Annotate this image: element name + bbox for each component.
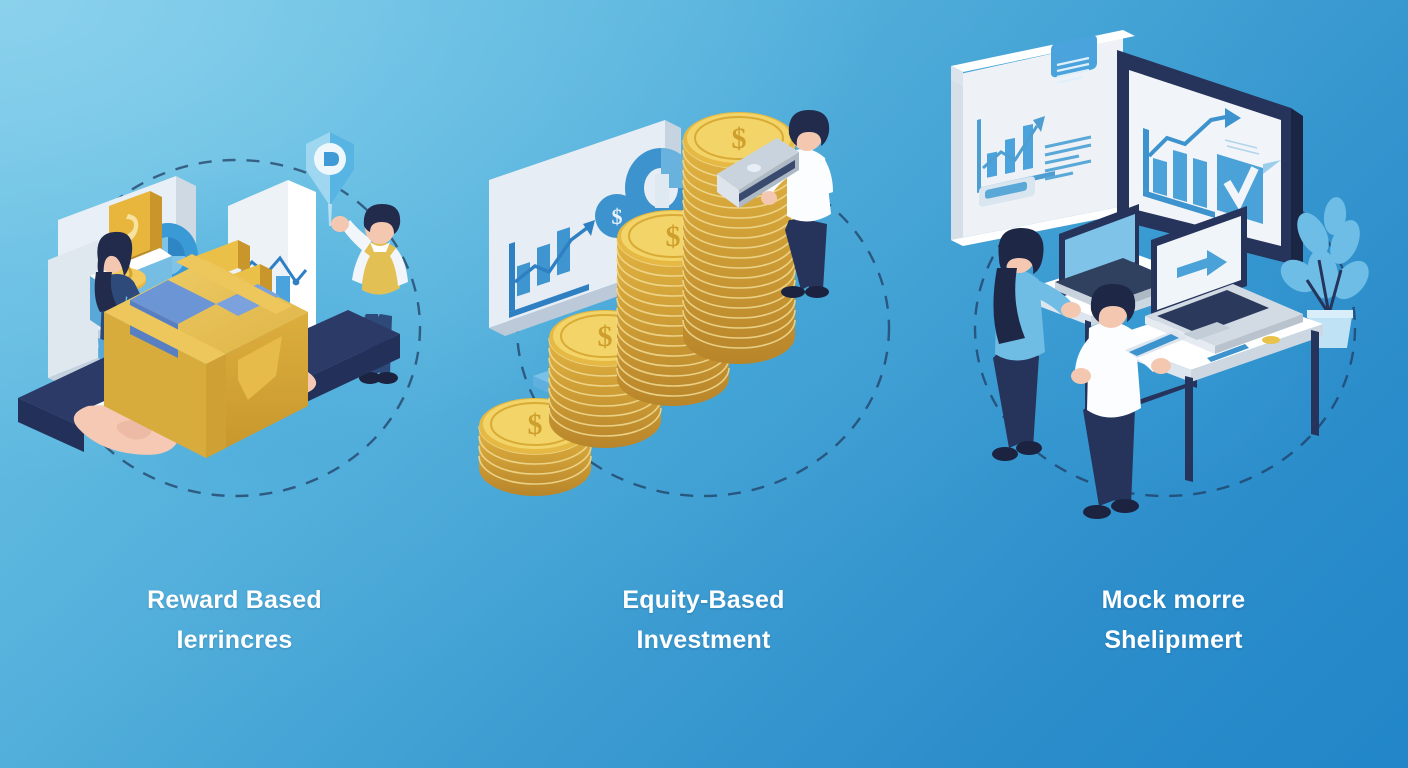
shoe <box>992 447 1018 461</box>
shoe <box>805 286 829 298</box>
isometric-parcel-delivery-scene <box>0 28 469 548</box>
caption-line-2: Ierrincres <box>0 620 469 660</box>
desk-leg <box>1185 376 1193 482</box>
coin-dollar-symbol: $ <box>528 408 543 441</box>
scene-reward-based <box>0 28 469 548</box>
chart-axis <box>509 242 515 312</box>
caption-line-2: Shelipımert <box>939 620 1408 660</box>
panel-caption-equity-based: Equity-Based Investment <box>469 580 938 660</box>
panel-caption-reward-based: Reward Based Ierrincres <box>0 580 469 660</box>
presentation-board <box>951 30 1135 246</box>
shoe <box>1083 505 1111 519</box>
coin-dollar-symbol: $ <box>598 320 613 353</box>
caption-line-1: Mock morre <box>1102 586 1246 614</box>
coin-dollar-symbol: $ <box>732 122 747 155</box>
illustration-canvas: Reward Based Ierrincres <box>0 0 1408 768</box>
scene-equity-based-investment: $ <box>469 28 938 548</box>
panel-caption-mock-development: Mock morre Shelipımert <box>939 580 1408 660</box>
panel-reward-based: Reward Based Ierrincres <box>0 0 469 768</box>
shoe <box>1016 441 1042 455</box>
shoe <box>1111 499 1139 513</box>
svg-text:$: $ <box>612 204 623 229</box>
shoe <box>376 372 398 384</box>
bar <box>537 244 550 286</box>
scene-mock-development <box>939 28 1408 548</box>
caption-line-1: Reward Based <box>147 586 322 614</box>
caption-line-2: Investment <box>469 620 938 660</box>
panel-mock-development: Mock morre Shelipımert <box>939 0 1408 768</box>
isometric-coin-stacks-scene: $ <box>469 28 938 548</box>
shoe <box>781 286 805 298</box>
panel-equity-based-investment: $ <box>469 0 938 768</box>
coin-dollar-symbol: $ <box>666 220 681 253</box>
desk-leg <box>1311 330 1319 436</box>
sticky-note <box>1262 336 1280 344</box>
caption-line-1: Equity-Based <box>622 586 784 614</box>
isometric-office-workspace-scene <box>939 28 1408 548</box>
